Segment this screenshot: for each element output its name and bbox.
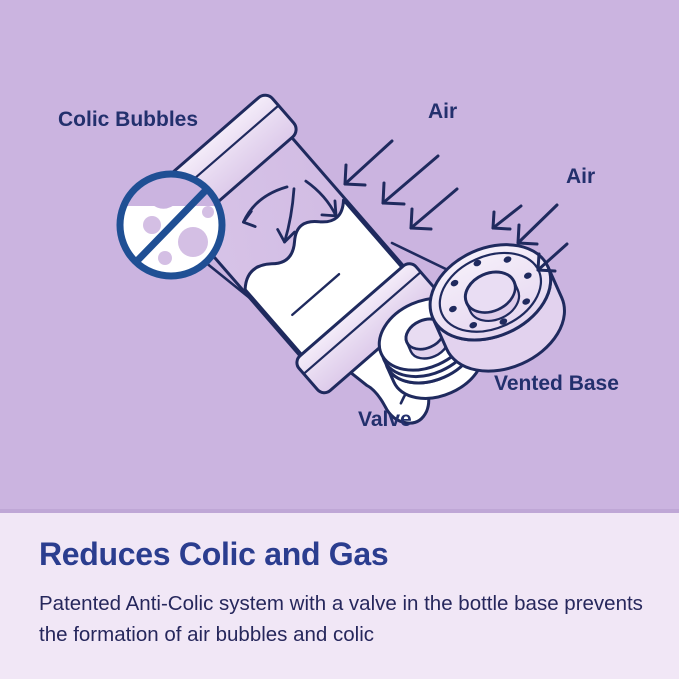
label-vented-base: Vented Base [494, 372, 619, 396]
product-feature-card: Colic Bubbles Air Air Valve Vented Base … [0, 0, 679, 679]
label-air-top: Air [428, 100, 457, 124]
label-colic-bubbles: Colic Bubbles [58, 108, 198, 132]
anti-colic-diagram-svg [0, 0, 679, 513]
illustration-panel: Colic Bubbles Air Air Valve Vented Base [0, 0, 679, 513]
label-air-right: Air [566, 165, 595, 189]
label-valve: Valve [358, 408, 412, 432]
caption-headline: Reduces Colic and Gas [39, 536, 388, 573]
caption-body: Patented Anti-Colic system with a valve … [39, 588, 649, 650]
